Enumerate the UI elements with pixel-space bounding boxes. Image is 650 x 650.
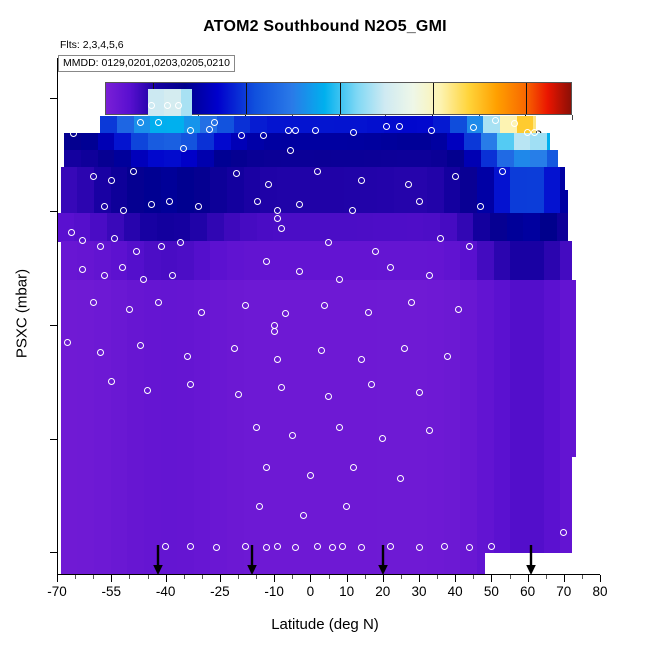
x-axis-minor-tick <box>75 575 76 579</box>
x-axis-tick-label: -40 <box>156 584 176 599</box>
x-axis-tick <box>57 575 58 582</box>
x-axis-tick <box>455 575 456 582</box>
x-axis-tick <box>491 575 492 582</box>
x-axis-tick <box>600 575 601 582</box>
x-axis-tick-label: 50 <box>484 584 499 599</box>
plot-canvas: ATOM2 Southbound N2O5_GMI Flts: 2,3,4,5,… <box>0 0 650 650</box>
x-axis-tick-label: 20 <box>375 584 390 599</box>
x-axis-minor-tick <box>292 575 293 579</box>
flight-leg-arrow <box>525 545 537 575</box>
y-axis-tick <box>50 552 57 553</box>
x-axis-tick <box>166 575 167 582</box>
x-axis-tick <box>419 575 420 582</box>
x-axis-minor-tick <box>582 575 583 579</box>
x-axis-minor-tick <box>148 575 149 579</box>
plot-frame <box>57 58 600 575</box>
flight-leg-arrow <box>246 545 258 575</box>
x-axis-tick <box>274 575 275 582</box>
x-axis-minor-tick <box>401 575 402 579</box>
flights-annotation: Flts: 2,3,4,5,6 <box>60 39 124 51</box>
flight-leg-arrow <box>152 545 164 575</box>
x-axis-minor-tick <box>546 575 547 579</box>
x-axis-tick-label: 80 <box>592 584 607 599</box>
y-axis-tick <box>50 325 57 326</box>
x-axis-minor-tick <box>256 575 257 579</box>
x-axis-tick-label: -70 <box>47 584 67 599</box>
y-axis-label: PSXC (mbar) <box>14 204 31 424</box>
x-axis-minor-tick <box>93 575 94 579</box>
x-axis-tick <box>111 575 112 582</box>
x-axis-tick <box>383 575 384 582</box>
x-axis-tick <box>220 575 221 582</box>
x-axis-minor-tick <box>473 575 474 579</box>
x-axis-tick-label: -55 <box>102 584 122 599</box>
y-axis-tick <box>50 211 57 212</box>
x-axis-tick-label: 40 <box>448 584 463 599</box>
x-axis-tick <box>310 575 311 582</box>
x-axis-minor-tick <box>437 575 438 579</box>
flight-leg-arrow <box>377 545 389 575</box>
x-axis-tick-label: -10 <box>264 584 284 599</box>
x-axis-tick <box>528 575 529 582</box>
y-axis-tick <box>50 98 57 99</box>
x-axis-tick-label: 0 <box>307 584 315 599</box>
x-axis-label: Latitude (deg N) <box>0 616 650 633</box>
x-axis-minor-tick <box>365 575 366 579</box>
x-axis-tick <box>564 575 565 582</box>
x-axis-tick <box>347 575 348 582</box>
x-axis-minor-tick <box>510 575 511 579</box>
x-axis-tick-label: 10 <box>339 584 354 599</box>
x-axis-minor-tick <box>329 575 330 579</box>
x-axis-minor-tick <box>129 575 130 579</box>
x-axis-tick-label: 70 <box>556 584 571 599</box>
x-axis-tick-label: 60 <box>520 584 535 599</box>
x-axis-tick-label: -25 <box>210 584 230 599</box>
x-axis-minor-tick <box>238 575 239 579</box>
chart-title: ATOM2 Southbound N2O5_GMI <box>0 18 650 36</box>
x-axis-minor-tick <box>184 575 185 579</box>
x-axis-tick-label: 30 <box>411 584 426 599</box>
y-axis-tick <box>50 439 57 440</box>
x-axis-minor-tick <box>202 575 203 579</box>
